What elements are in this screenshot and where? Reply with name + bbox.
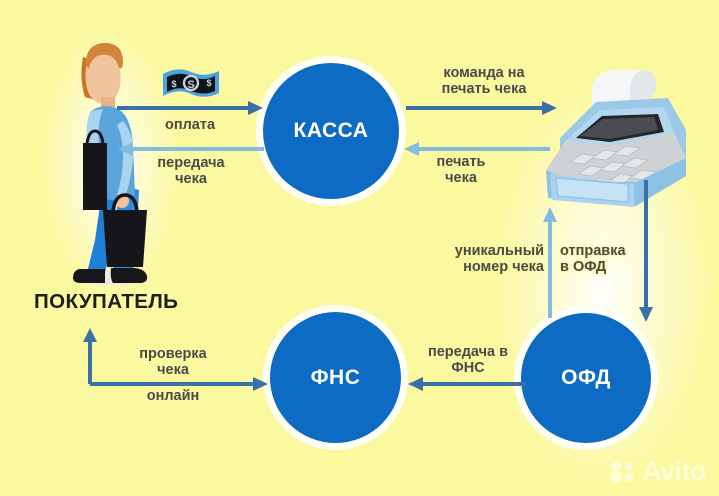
edge-label-print-receipt: печать чека xyxy=(417,154,505,186)
edge-label-payment: оплата xyxy=(144,117,236,133)
arrow-transfer-to-fns xyxy=(404,375,528,393)
avito-dots-icon xyxy=(610,460,636,484)
banknote-icon: S $ $ xyxy=(160,66,222,102)
edge-label-send-to-ofd: отправка в ОФД xyxy=(560,243,668,275)
avito-watermark-text: Avito xyxy=(642,456,706,487)
svg-text:$: $ xyxy=(171,79,176,89)
node-kassa-label: КАССА xyxy=(294,119,369,142)
arrow-payment xyxy=(115,99,265,117)
edge-label-receipt-handover: передача чека xyxy=(135,155,247,187)
node-ofd-label: ОФД xyxy=(561,366,611,389)
avito-watermark: Avito xyxy=(610,456,706,487)
svg-text:$: $ xyxy=(206,78,211,88)
edge-label-print-command: команда на печать чека xyxy=(404,65,564,97)
diagram-canvas: ПОКУПАТЕЛЬ S $ $ xyxy=(0,0,719,496)
edge-label-check-online: проверка чека xyxy=(106,346,240,378)
svg-text:S: S xyxy=(187,79,194,91)
node-ofd[interactable]: ОФД xyxy=(521,313,651,443)
node-fns-label: ФНС xyxy=(311,366,361,389)
cash-register-icon xyxy=(540,66,715,201)
edge-label-transfer-to-fns: передача в ФНС xyxy=(406,344,530,376)
edge-label-unique-number: уникальный номер чека xyxy=(434,243,544,275)
actor-label-buyer: ПОКУПАТЕЛЬ xyxy=(34,290,178,314)
arrow-print-command xyxy=(404,99,559,117)
node-kassa[interactable]: КАССА xyxy=(263,63,399,199)
node-fns[interactable]: ФНС xyxy=(270,312,401,443)
edge-label-check-online-secondary: онлайн xyxy=(106,388,240,404)
